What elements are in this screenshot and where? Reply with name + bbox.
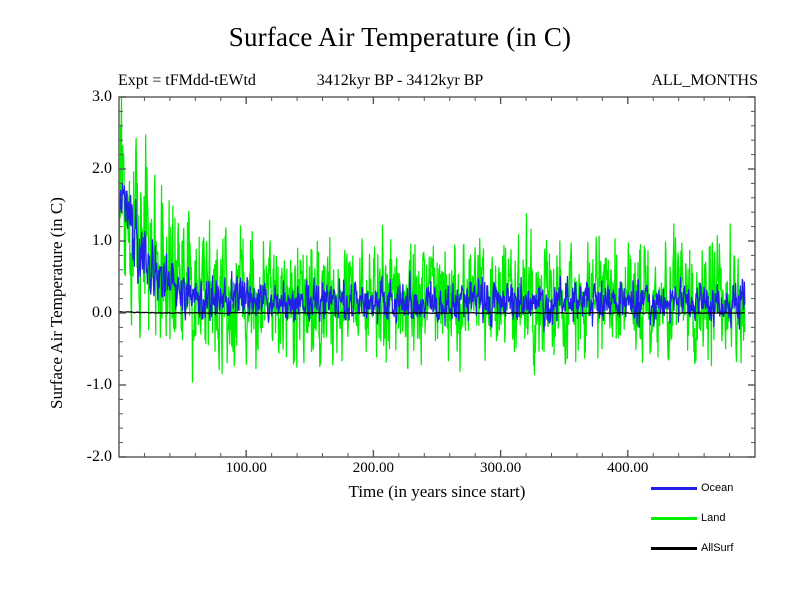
legend-swatch	[651, 487, 697, 490]
legend-label: Ocean	[701, 480, 733, 496]
legend-item-land[interactable]: Land	[651, 510, 800, 540]
legend-swatch	[651, 517, 697, 520]
legend-swatch	[651, 547, 697, 550]
chart-canvas: Surface Air Temperature (in C) Expt = tF…	[0, 0, 800, 600]
legend-label: Land	[701, 510, 725, 526]
legend-label: AllSurf	[701, 540, 733, 556]
chart-legend: OceanLandAllSurf	[651, 480, 800, 570]
legend-item-ocean[interactable]: Ocean	[651, 480, 800, 510]
legend-item-allsurf[interactable]: AllSurf	[651, 540, 800, 570]
